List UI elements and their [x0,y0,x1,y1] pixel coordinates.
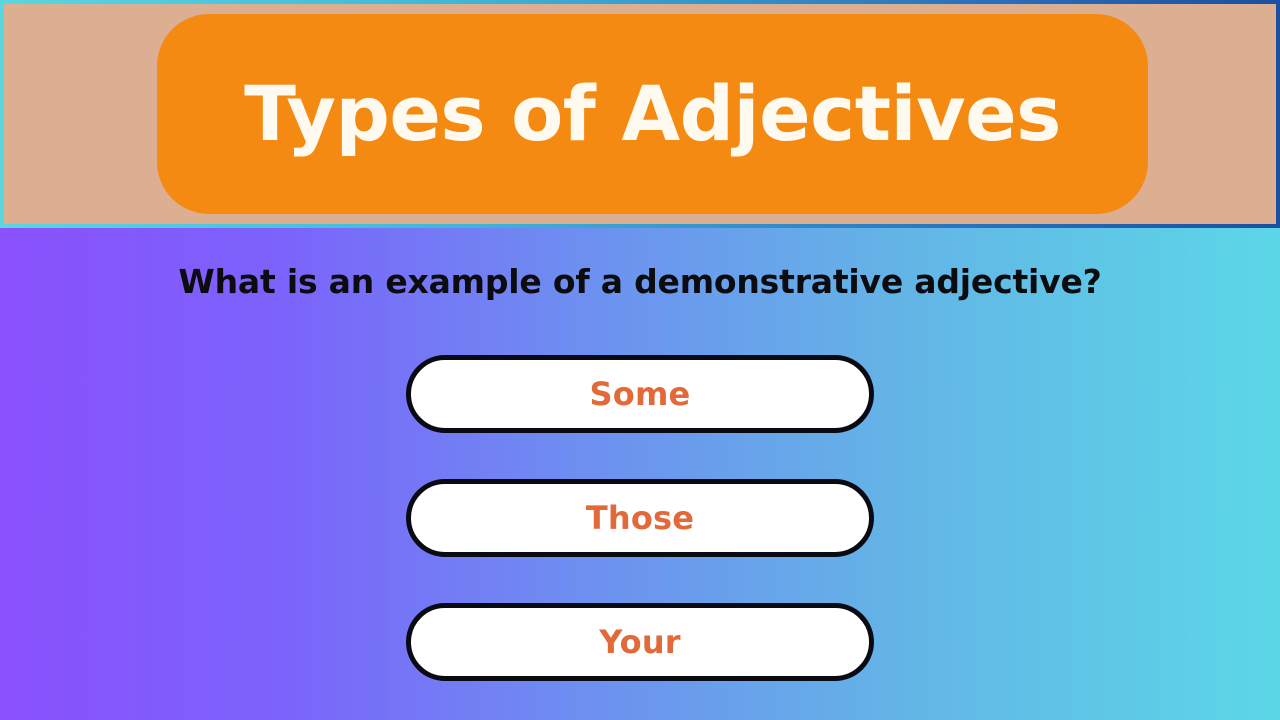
header-backdrop: Types of Adjectives [4,4,1276,224]
quiz-slide: Types of Adjectives What is an example o… [0,0,1280,720]
quiz-body: What is an example of a demonstrative ad… [0,228,1280,720]
header-band: Types of Adjectives [0,0,1280,228]
answer-option-your[interactable]: Your [406,603,874,681]
answer-options-list: Some Those Your [406,355,874,681]
answer-option-some[interactable]: Some [406,355,874,433]
page-title: Types of Adjectives [244,76,1061,152]
title-plate: Types of Adjectives [157,14,1148,214]
answer-option-label: Those [586,499,694,537]
answer-option-label: Your [599,623,681,661]
answer-option-label: Some [590,375,691,413]
answer-option-those[interactable]: Those [406,479,874,557]
question-prompt: What is an example of a demonstrative ad… [0,262,1280,301]
